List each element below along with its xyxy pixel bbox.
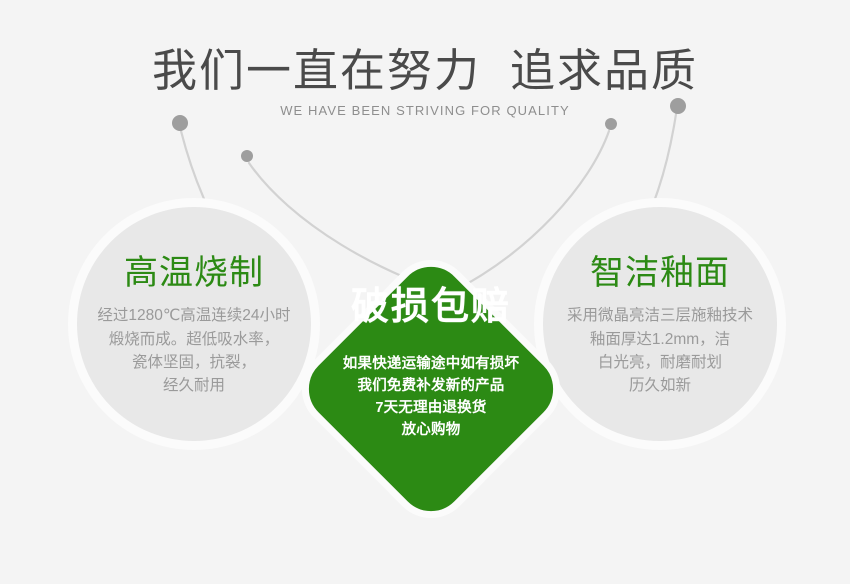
feature-title-damage-guarantee: 破损包赔 [297, 287, 565, 329]
banner-header: 我们一直在努力 追求品质 WE HAVE BEEN STRIVING FOR Q… [0, 46, 850, 118]
page-subtitle: WE HAVE BEEN STRIVING FOR QUALITY [0, 103, 850, 118]
feature-body-damage-guarantee: 如果快递运输途中如有损坏 我们免费补发新的产品 7天无理由退换货 放心购物 [297, 353, 565, 441]
feature-body-high-temp: 经过1280℃高温连续24小时 煅烧而成。超低吸水率， 瓷体坚固，抗裂， 经久耐… [77, 304, 311, 397]
feature-title-high-temp: 高温烧制 [77, 255, 311, 292]
diamond-content: 破损包赔 如果快递运输途中如有损坏 我们免费补发新的产品 7天无理由退换货 放心… [297, 232, 565, 546]
feature-circle-glaze[interactable]: 智洁釉面 采用微晶亮洁三层施釉技术 釉面厚达1.2mm，洁 白光亮，耐磨耐划 历… [534, 198, 786, 450]
feature-body-glaze: 采用微晶亮洁三层施釉技术 釉面厚达1.2mm，洁 白光亮，耐磨耐划 历久如新 [543, 304, 777, 397]
promo-banner: 我们一直在努力 追求品质 WE HAVE BEEN STRIVING FOR Q… [0, 0, 850, 584]
dot-inner-right-icon [605, 118, 617, 130]
feature-title-glaze: 智洁釉面 [543, 255, 777, 292]
page-title: 我们一直在努力 追求品质 [0, 46, 850, 96]
dot-inner-left-icon [241, 150, 253, 162]
feature-diamond-damage-guarantee[interactable]: 破损包赔 如果快递运输途中如有损坏 我们免费补发新的产品 7天无理由退换货 放心… [297, 232, 565, 546]
feature-circle-high-temp[interactable]: 高温烧制 经过1280℃高温连续24小时 煅烧而成。超低吸水率， 瓷体坚固，抗裂… [68, 198, 320, 450]
